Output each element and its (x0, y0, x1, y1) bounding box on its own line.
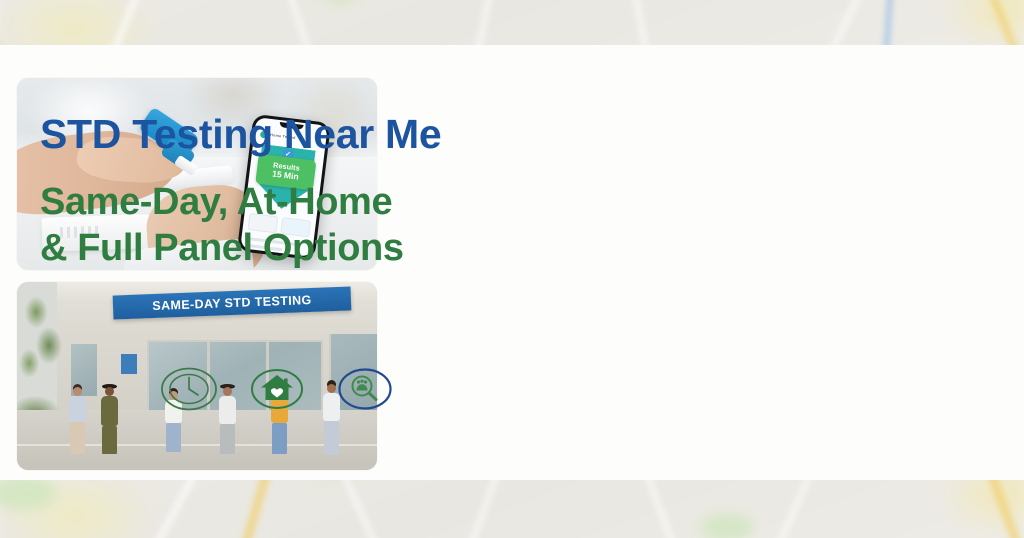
feature-icon-row (160, 366, 394, 412)
blurred-map-texture-top (0, 0, 1024, 45)
wall-notice-sign (121, 354, 137, 374)
house-heart-icon (248, 366, 306, 412)
map-base-top (0, 0, 1024, 45)
person-head (73, 387, 82, 396)
map-base-bottom (0, 480, 1024, 538)
page-subtitle-line-1: Same-Day, At-Home (40, 179, 404, 225)
clock-icon (160, 366, 218, 412)
banner-canvas: Home Tested ✓ Results 15 Min (0, 0, 1024, 538)
clinic-sign-text: SAME-DAY STD TESTING (152, 293, 312, 313)
person-torso (101, 396, 118, 426)
person-torso (69, 396, 86, 422)
person-legs (102, 426, 117, 454)
map-park-patch (700, 514, 754, 538)
person-legs (166, 423, 181, 452)
page-subtitle: Same-Day, At-Home & Full Panel Options (40, 179, 404, 272)
page-subtitle-line-2: & Full Panel Options (40, 225, 404, 271)
person (101, 384, 118, 454)
blurred-map-texture-bottom (0, 480, 1024, 538)
person-head (105, 387, 114, 396)
page-title: STD Testing Near Me (40, 112, 441, 156)
person-legs (324, 421, 339, 455)
person (69, 387, 86, 454)
person-legs (272, 423, 287, 454)
magnifier-panel-icon (336, 366, 394, 412)
person-legs (70, 422, 85, 454)
person-legs (220, 424, 235, 454)
